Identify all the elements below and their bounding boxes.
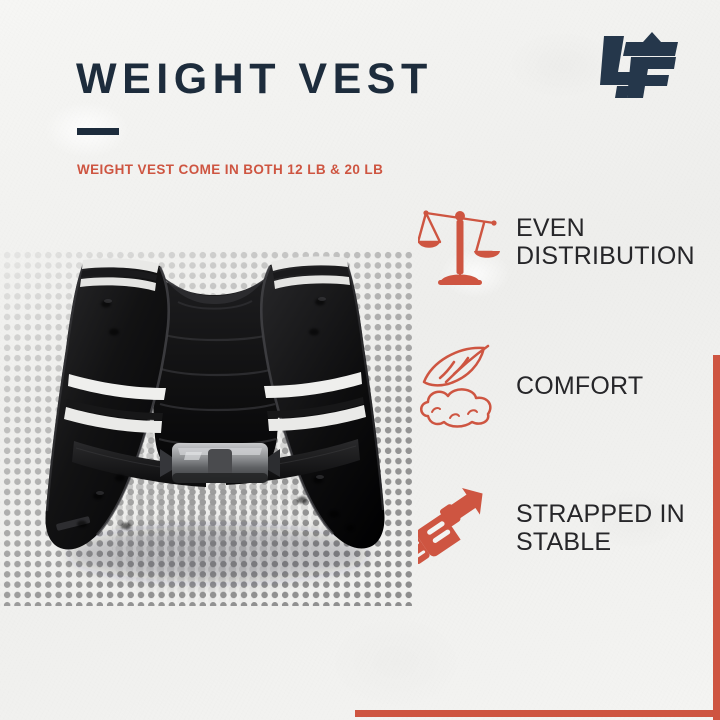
lf-crown-logo: [586, 28, 682, 100]
promo-canvas: WEIGHT VEST WEIGHT VEST COME IN BOTH 12 …: [0, 0, 720, 720]
balance-scale-icon: [418, 196, 502, 288]
page-title: WEIGHT VEST: [76, 58, 433, 101]
weight-vest-photo: [28, 238, 404, 598]
right-edge-accent-bar: [713, 355, 720, 720]
title-underline-rule: [77, 128, 119, 135]
strap-buckle-icon: [418, 482, 502, 574]
feature-label-even-distribution: EVEN DISTRIBUTION: [516, 214, 695, 271]
feather-cloud-icon: [418, 340, 502, 432]
page-subtitle: WEIGHT VEST COME IN BOTH 12 LB & 20 LB: [77, 162, 383, 177]
feature-item-strapped-in-stable: STRAPPED IN STABLE: [418, 482, 685, 574]
feature-item-even-distribution: EVEN DISTRIBUTION: [418, 196, 695, 288]
feature-item-comfort: COMFORT: [418, 340, 643, 432]
bottom-edge-accent-bar: [355, 710, 720, 717]
feature-label-comfort: COMFORT: [516, 372, 643, 401]
feature-label-strapped-in-stable: STRAPPED IN STABLE: [516, 500, 685, 557]
